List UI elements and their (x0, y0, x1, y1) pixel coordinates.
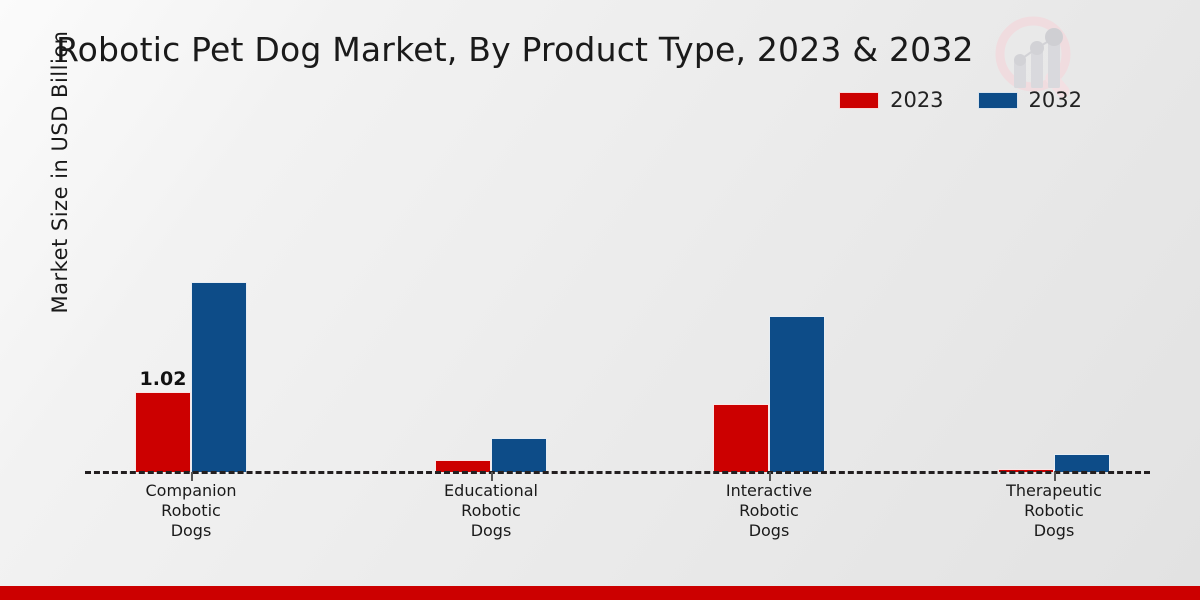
x-axis-tick-companion (191, 472, 193, 481)
legend-item-2023[interactable]: 2023 (839, 90, 943, 111)
legend-swatch-2032 (978, 92, 1018, 109)
bar-2032-therapeutic[interactable] (1054, 454, 1110, 472)
chart-canvas: Robotic Pet Dog Market, By Product Type,… (0, 0, 1200, 600)
bar-group-companion: 1.02 (134, 110, 248, 472)
y-axis-title: Market Size in USD Billion (48, 0, 72, 382)
legend-swatch-2023 (839, 92, 879, 109)
x-axis-label-educational-line2: Robotic (391, 501, 591, 521)
x-axis-label-interactive-line3: Dogs (669, 521, 869, 541)
x-axis-label-therapeutic-line2: Robotic (954, 501, 1154, 521)
bar-group-educational (434, 110, 548, 472)
bar-2023-interactive[interactable] (713, 404, 769, 472)
bar-2032-interactive[interactable] (769, 316, 825, 472)
x-axis-label-educational-line3: Dogs (391, 521, 591, 541)
chart-title: Robotic Pet Dog Market, By Product Type,… (56, 30, 974, 69)
bar-2032-educational[interactable] (491, 438, 547, 472)
plot-area: 1.02 (85, 110, 1150, 472)
x-axis-tick-educational (491, 472, 493, 481)
x-axis-label-therapeutic-line3: Dogs (954, 521, 1154, 541)
bar-2023-companion[interactable]: 1.02 (135, 392, 191, 472)
x-axis-tick-therapeutic (1054, 472, 1056, 481)
chart-legend: 2023 2032 (839, 90, 1082, 111)
x-axis-label-educational: Educational Robotic Dogs (391, 481, 591, 541)
x-axis-label-interactive: Interactive Robotic Dogs (669, 481, 869, 541)
legend-label-2032: 2032 (1029, 90, 1082, 111)
x-axis-tick-interactive (769, 472, 771, 481)
x-axis-label-interactive-line2: Robotic (669, 501, 869, 521)
x-axis-label-companion-line3: Dogs (91, 521, 291, 541)
x-axis-label-therapeutic: Therapeutic Robotic Dogs (954, 481, 1154, 541)
bar-2032-companion[interactable] (191, 282, 247, 472)
x-axis-label-interactive-line1: Interactive (669, 481, 869, 501)
x-axis-baseline (85, 471, 1150, 474)
bottom-accent-strip (0, 586, 1200, 600)
x-axis-label-therapeutic-line1: Therapeutic (954, 481, 1154, 501)
x-axis-label-companion-line1: Companion (91, 481, 291, 501)
bar-group-therapeutic (997, 110, 1111, 472)
x-axis-label-companion-line2: Robotic (91, 501, 291, 521)
legend-label-2023: 2023 (890, 90, 943, 111)
bar-group-interactive (712, 110, 826, 472)
legend-item-2032[interactable]: 2032 (978, 90, 1082, 111)
x-axis-label-companion: Companion Robotic Dogs (91, 481, 291, 541)
bar-value-2023-companion: 1.02 (140, 368, 187, 390)
x-axis-label-educational-line1: Educational (391, 481, 591, 501)
